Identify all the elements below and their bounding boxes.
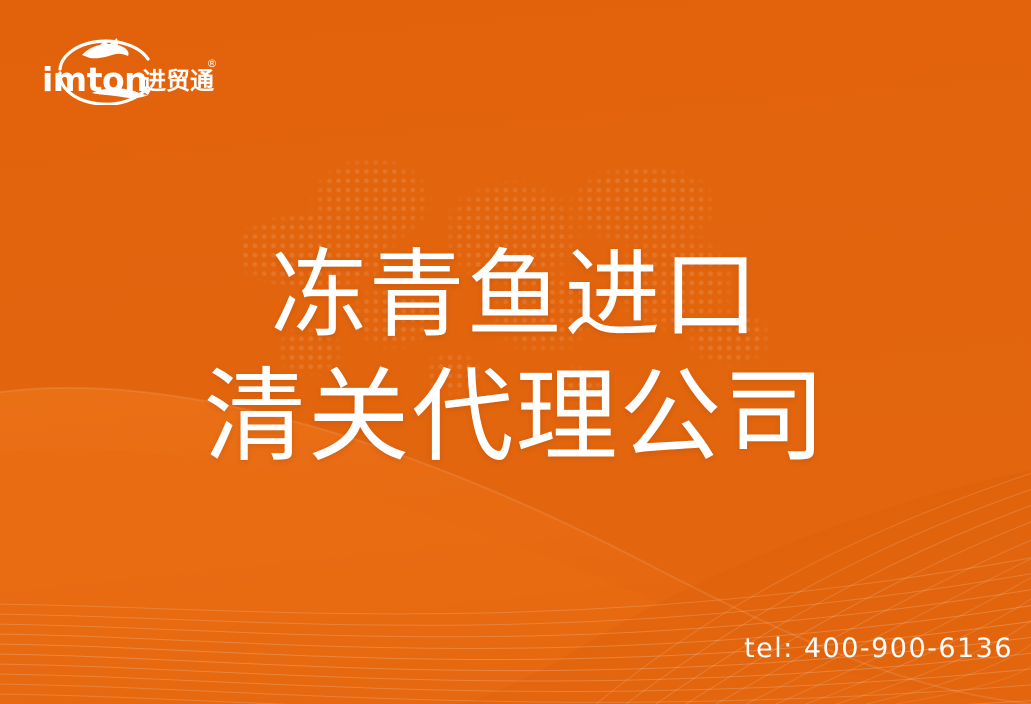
poster-canvas: imton 进贸通 ® 冻青鱼进口 清关代理公司 tel: 400-900-61… [0,0,1031,704]
registered-mark-icon: ® [207,57,218,70]
brand-logo[interactable]: imton 进贸通 ® [38,33,218,105]
page-title: 冻青鱼进口 清关代理公司 [0,236,1031,482]
contact-phone[interactable]: tel: 400-900-6136 [744,633,1013,664]
headline-line-2: 清关代理公司 [0,355,1031,481]
headline-line-1: 冻青鱼进口 [0,236,1031,355]
logo-chinese-name: 进贸通 [142,67,214,95]
logo-wordmark: imton [42,60,147,99]
